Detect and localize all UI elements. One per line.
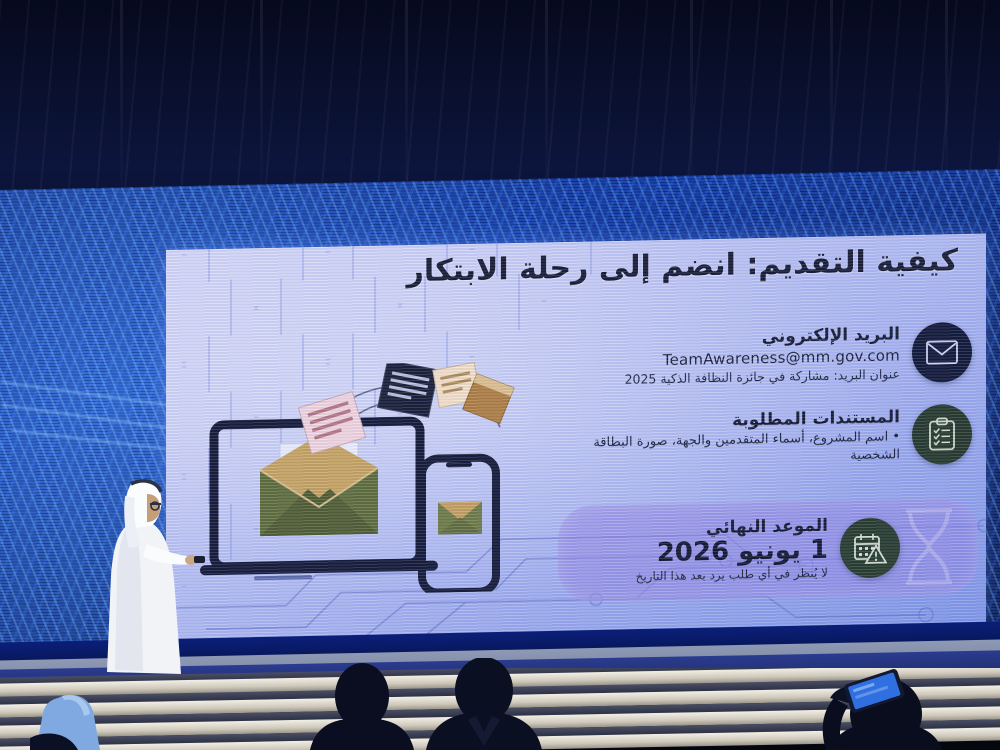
deadline-card: الموعد النهائي 1 يونيو 2026 لا يُنظر في … <box>558 498 978 602</box>
envelope-icon <box>912 322 972 383</box>
laptop-phone-email-illustration <box>200 361 530 598</box>
info-column: البريد الإلكتروني TeamAwareness@mm.gov.c… <box>542 322 972 487</box>
calendar-warning-icon <box>840 517 900 578</box>
documents-bullet: • اسم المشروع، أسماء المتقدمين والجهة، ص… <box>542 428 900 471</box>
conference-stage-photo: كيفية التقديم: انضم إلى رحلة الابتكار <box>0 0 1000 750</box>
documents-section: المستندات المطلوبة • اسم المشروع، أسماء … <box>542 404 972 473</box>
clipboard-checklist-icon <box>912 404 972 465</box>
presentation-slide: كيفية التقديم: انضم إلى رحلة الابتكار <box>166 234 986 642</box>
presenter-speaker <box>95 472 215 684</box>
email-section: البريد الإلكتروني TeamAwareness@mm.gov.c… <box>542 322 972 391</box>
